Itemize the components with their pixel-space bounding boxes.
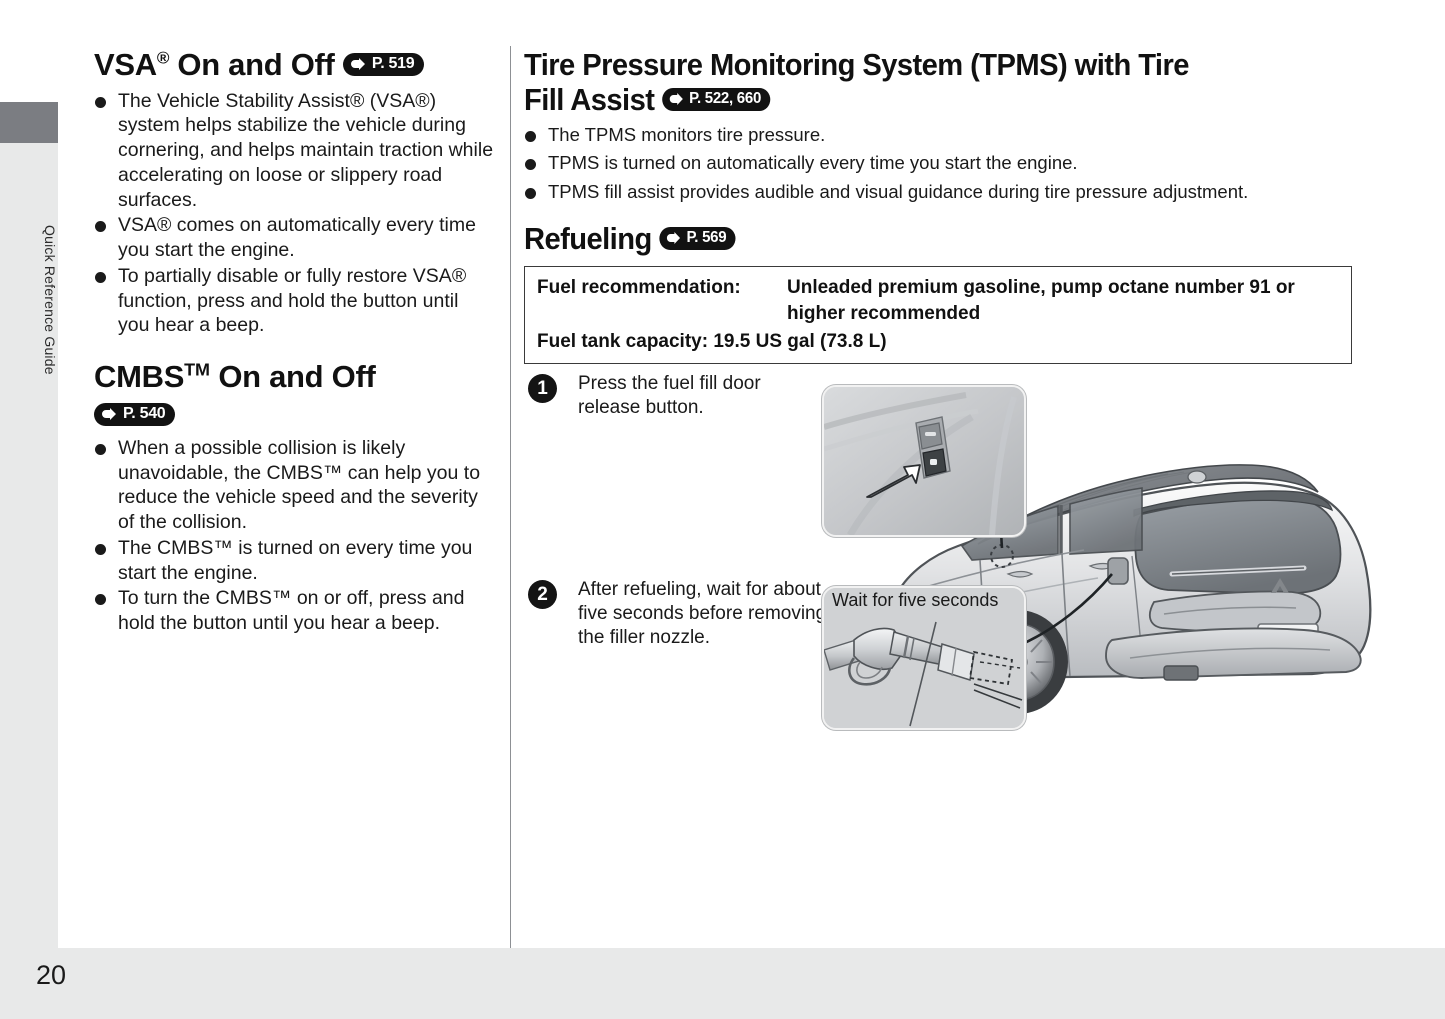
step-text: After refueling, wait for about five sec… (578, 578, 828, 650)
trademark-mark-icon: TM (184, 360, 210, 380)
vsa-bullet-list: The Vehicle Stability Assist® (VSA®) sys… (94, 89, 494, 339)
list-item: To turn the CMBS™ on or off, press and h… (94, 586, 494, 636)
page-reference-badge-522-660[interactable]: P. 522, 660 (662, 88, 771, 111)
manual-page: Quick Reference Guide VSA® On and Off P.… (0, 0, 1445, 1019)
heading-tpms: Tire Pressure Monitoring System (TPMS) w… (524, 48, 1332, 117)
heading-vsa-on-and-off: VSA® On and Off P. 519 (94, 48, 494, 83)
heading-refueling-text: Refueling (524, 221, 652, 256)
fuel-recommendation-value: Unleaded premium gasoline, pump octane n… (787, 275, 1339, 326)
step-number-badge: 1 (528, 374, 557, 403)
list-item: The TPMS monitors tire pressure. (524, 123, 1384, 147)
fuel-specification-table: Fuel recommendation: Unleaded premium ga… (524, 266, 1352, 364)
list-item: TPMS is turned on automatically every ti… (524, 151, 1384, 175)
heading-cmbs-text: CMBS (94, 359, 184, 394)
tpms-bullet-list: The TPMS monitors tire pressure. TPMS is… (524, 123, 1384, 203)
heading-vsa-text: VSA (94, 47, 157, 82)
cmbs-reference-row: P. 540 (94, 399, 494, 426)
wait-for-five-seconds-label: Wait for five seconds (832, 590, 998, 611)
heading-vsa-rest: On and Off (169, 47, 334, 82)
step: 1 Press the fuel fill door release butto… (528, 372, 828, 420)
step-number-badge: 2 (528, 580, 557, 609)
table-row: Fuel recommendation: Unleaded premium ga… (537, 275, 1339, 326)
arrow-right-icon (348, 57, 369, 71)
left-column: VSA® On and Off P. 519 The Vehicle Stabi… (94, 48, 494, 637)
list-item: To partially disable or fully restore VS… (94, 264, 494, 338)
callout-wait-five-seconds: Wait for five seconds (822, 586, 1026, 730)
page-reference-label: P. 540 (123, 404, 165, 424)
side-tab-marker (0, 102, 58, 143)
step-text: Press the fuel fill door release button. (578, 372, 828, 420)
page-reference-label: P. 519 (372, 54, 414, 74)
page-reference-label: P. 569 (686, 228, 726, 248)
footer-band (0, 948, 1445, 1019)
fuel-tank-capacity-row: Fuel tank capacity: 19.5 US gal (73.8 L) (537, 329, 1339, 355)
page-reference-badge-569[interactable]: P. 569 (659, 227, 736, 250)
page-reference-badge-540[interactable]: P. 540 (94, 403, 175, 426)
list-item: TPMS fill assist provides audible and vi… (524, 180, 1384, 204)
arrow-right-icon (664, 231, 684, 245)
refueling-illustration-group: Wait for five seconds (812, 378, 1387, 748)
step: 2 After refueling, wait for about five s… (528, 578, 828, 650)
arrow-right-icon (99, 407, 120, 421)
callout-fuel-door-release-button (822, 385, 1026, 537)
arrow-right-icon (667, 92, 687, 106)
fuel-recommendation-label: Fuel recommendation: (537, 275, 787, 326)
list-item: When a possible collision is likely unav… (94, 436, 494, 535)
list-item: The CMBS™ is turned on every time you st… (94, 536, 494, 586)
heading-refueling: Refueling P. 569 (524, 222, 1332, 257)
fuel-recommendation-value-line1: Unleaded premium gasoline, pump octane n… (787, 277, 1295, 298)
heading-tpms-line2: Fill Assist (524, 82, 654, 117)
heading-cmbs-rest: On and Off (210, 359, 375, 394)
refueling-step-2: 2 After refueling, wait for about five s… (528, 578, 828, 650)
registered-mark-icon: ® (157, 49, 169, 68)
page-number: 20 (36, 960, 66, 991)
right-column: Tire Pressure Monitoring System (TPMS) w… (524, 48, 1384, 364)
list-item: VSA® comes on automatically every time y… (94, 213, 494, 263)
heading-cmbs-on-and-off: CMBSTM On and Off (94, 360, 494, 395)
refueling-step-1: 1 Press the fuel fill door release butto… (528, 372, 828, 420)
fuel-door-release-button-illustration (824, 387, 1024, 535)
column-divider (510, 46, 511, 948)
page-reference-badge-519[interactable]: P. 519 (343, 53, 424, 76)
page-reference-label: P. 522, 660 (689, 89, 761, 109)
heading-tpms-line1: Tire Pressure Monitoring System (TPMS) w… (524, 47, 1189, 82)
side-rail-label: Quick Reference Guide (0, 150, 58, 450)
cmbs-bullet-list: When a possible collision is likely unav… (94, 436, 494, 636)
list-item: The Vehicle Stability Assist® (VSA®) sys… (94, 89, 494, 213)
fuel-recommendation-value-line2: higher recommended (787, 303, 980, 324)
